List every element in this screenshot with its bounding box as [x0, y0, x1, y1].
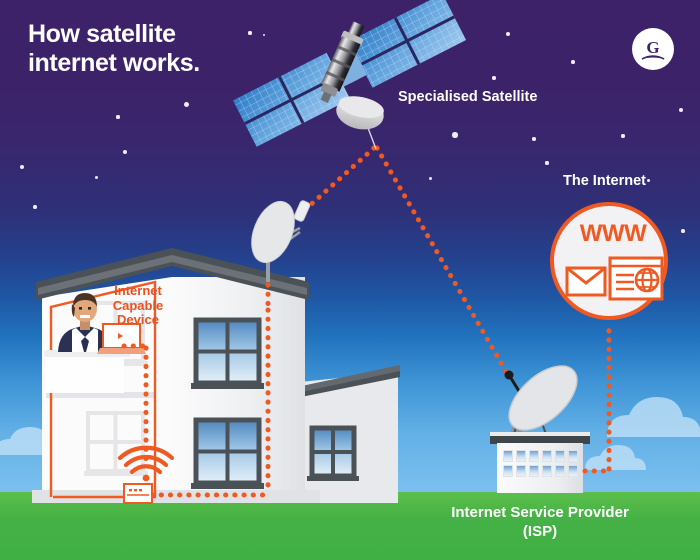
- star: [492, 76, 495, 79]
- star: [681, 229, 685, 233]
- isp-window: [529, 465, 539, 477]
- label-the-internet: The Internet: [563, 173, 646, 189]
- isp-window: [555, 450, 565, 462]
- isp-building: [497, 443, 583, 493]
- star: [248, 31, 251, 34]
- star: [429, 177, 432, 180]
- star: [532, 137, 535, 140]
- page-title: How satellite internet works.: [28, 20, 200, 77]
- star: [33, 205, 36, 208]
- isp-window: [542, 450, 552, 462]
- isp-window: [516, 465, 526, 477]
- envelope-icon: [567, 268, 605, 295]
- infographic-canvas: WWW: [0, 0, 700, 560]
- star: [452, 132, 457, 137]
- label-internet-service-provider: Internet Service Provider (ISP): [440, 503, 640, 541]
- isp-window: [529, 450, 539, 462]
- isp-window: [503, 465, 513, 477]
- browser-window-globe-icon: [610, 258, 662, 299]
- isp-window: [516, 450, 526, 462]
- star: [647, 179, 650, 182]
- isp-window: [503, 450, 513, 462]
- isp-window: [568, 450, 578, 462]
- isp-window: [568, 465, 578, 477]
- isp-window: [542, 465, 552, 477]
- internet-circle: WWW: [550, 202, 668, 320]
- svg-text:G: G: [646, 38, 659, 57]
- g-logo-mark: G: [636, 32, 670, 66]
- label-internet-capable-device: Internet Capable Device: [100, 284, 176, 328]
- isp-window: [555, 465, 565, 477]
- star: [405, 32, 408, 35]
- star: [116, 115, 119, 118]
- star: [95, 176, 98, 179]
- star: [621, 134, 624, 137]
- star: [184, 102, 189, 107]
- star: [545, 161, 548, 164]
- star: [571, 60, 575, 64]
- label-specialised-satellite: Specialised Satellite: [398, 89, 537, 105]
- g-logo[interactable]: G: [632, 28, 674, 70]
